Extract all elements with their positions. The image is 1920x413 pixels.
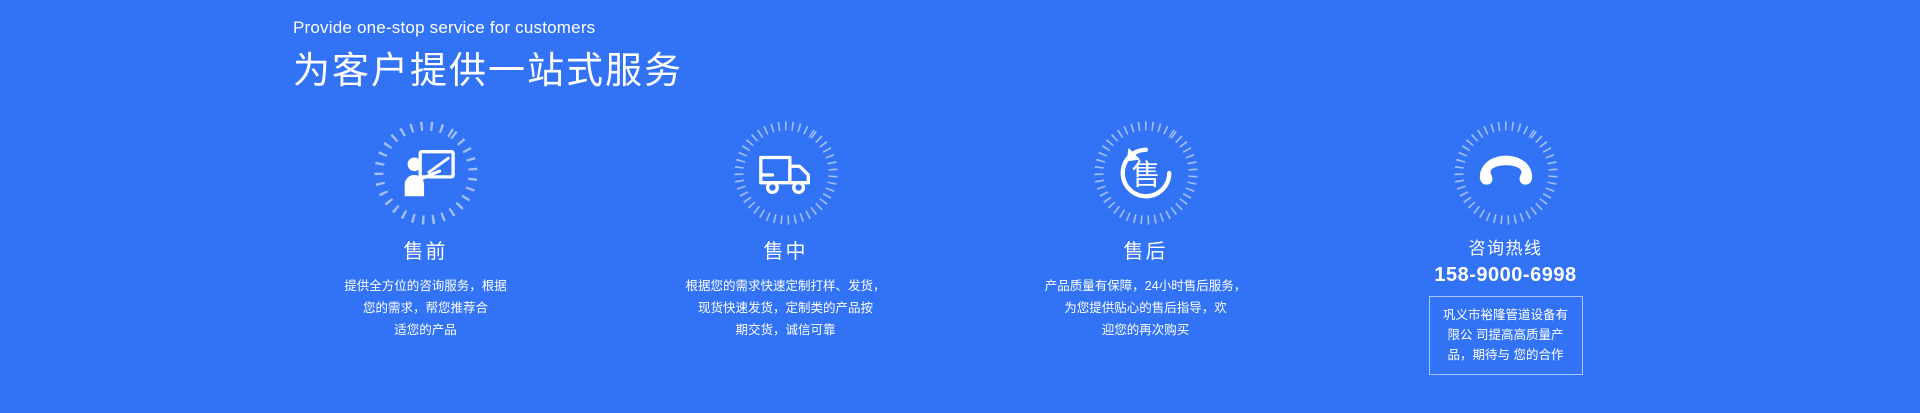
service-column-presale: 售前 提供全方位的咨询服务，根据 您的需求，帮您推荐合 适您的产品 [293, 118, 558, 375]
desc-line: 为您提供贴心的售后指导，欢 [1026, 298, 1266, 320]
service-banner: Provide one-stop service for customers 为… [0, 0, 1920, 413]
desc-line: 您的需求，帮您推荐合 [306, 298, 546, 320]
column-title: 售中 [764, 240, 808, 264]
desc-line: 现货快速发货，定制类的产品按 [666, 298, 906, 320]
desc-line: 迎您的再次购买 [1026, 320, 1266, 342]
column-description: 根据您的需求快速定制打样、发货， 现货快速发货，定制类的产品按 期交货，诚信可靠 [666, 276, 906, 342]
svg-text:售: 售 [1131, 159, 1160, 192]
eyebrow-text: Provide one-stop service for customers [293, 18, 683, 38]
desc-line: 适您的产品 [306, 320, 546, 342]
desc-line: 根据您的需求快速定制打样、发货， [666, 276, 906, 298]
hotline-label: 咨询热线 [1469, 238, 1543, 260]
delivery-truck-icon [755, 142, 817, 204]
column-title: 售前 [404, 240, 448, 264]
column-description: 产品质量有保障，24小时售后服务， 为您提供贴心的售后指导，欢 迎您的再次购买 [1026, 276, 1266, 342]
note-line: 您的合作 [1513, 348, 1563, 362]
desc-line: 提供全方位的咨询服务，根据 [306, 276, 546, 298]
service-columns: 售前 提供全方位的咨询服务，根据 您的需求，帮您推荐合 适您的产品 [293, 118, 1638, 375]
service-column-insale: 售中 根据您的需求快速定制打样、发货， 现货快速发货，定制类的产品按 期交货，诚… [653, 118, 918, 375]
presenter-board-icon [395, 142, 457, 204]
after-sales-arrow-icon: 售 [1115, 142, 1177, 204]
page-title: 为客户提供一站式服务 [293, 48, 683, 94]
desc-line: 产品质量有保障，24小时售后服务， [1026, 276, 1266, 298]
service-column-aftersale: 售 售后 产品质量有保障，24小时售后服务， 为您提供贴心的售后指导，欢 迎您的… [1013, 118, 1278, 375]
telephone-icon [1475, 142, 1537, 204]
icon-hotline [1451, 118, 1561, 228]
icon-insale [731, 118, 841, 228]
column-title: 售后 [1124, 240, 1168, 264]
company-note-box: 巩义市裕隆管道设备有限公 司提高高质量产品，期待与 您的合作 [1429, 296, 1583, 375]
icon-presale [371, 118, 481, 228]
service-column-hotline: 咨询热线 158-9000-6998 巩义市裕隆管道设备有限公 司提高高质量产品… [1373, 118, 1638, 375]
heading-block: Provide one-stop service for customers 为… [293, 18, 683, 95]
icon-aftersale: 售 [1091, 118, 1201, 228]
column-description: 提供全方位的咨询服务，根据 您的需求，帮您推荐合 适您的产品 [306, 276, 546, 342]
hotline-number[interactable]: 158-9000-6998 [1434, 262, 1576, 288]
desc-line: 期交货，诚信可靠 [666, 320, 906, 342]
